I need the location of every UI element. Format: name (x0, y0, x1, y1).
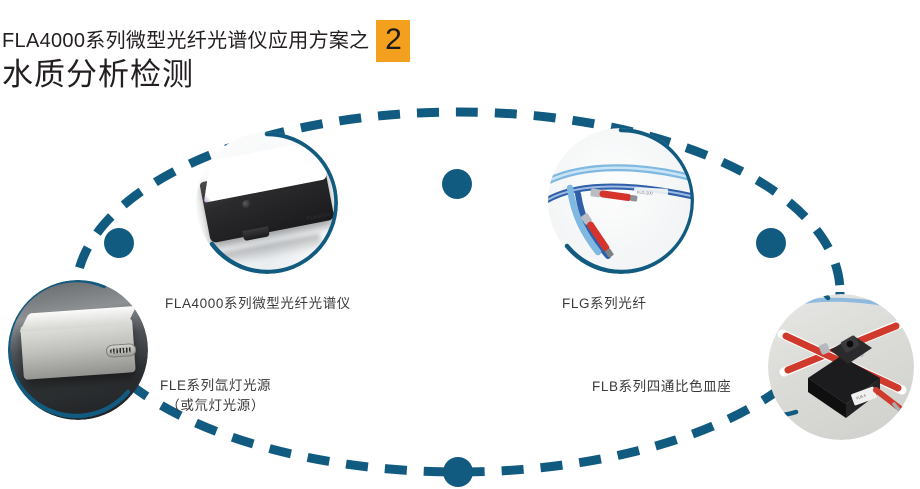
dot-right-icon (756, 228, 786, 258)
status-badge: 2 (376, 20, 410, 62)
dot-bottom-icon (443, 457, 473, 487)
node-spectrometer[interactable]: FLA4000 Miniature Fiber Optic Spectromet… (196, 132, 338, 274)
caption-cuvette-holder: FLB系列四通比色皿座 (592, 377, 731, 397)
svg-text:FLG-200: FLG-200 (637, 190, 654, 196)
caption-fiber: FLG系列光纤 (562, 294, 646, 314)
node-fiber[interactable]: FLG-200 (548, 128, 694, 274)
page-header: FLA4000系列微型光纤光谱仪应用方案之 2 水质分析检测 (0, 0, 920, 110)
dot-top-icon (442, 169, 472, 199)
optical-fiber-photo: FLG-200 (548, 128, 694, 274)
diagram-canvas: FLA4000 Miniature Fiber Optic Spectromet… (0, 104, 920, 489)
cuvette-holder-photo: FLB-4 (768, 294, 914, 440)
caption-spectrometer: FLA4000系列微型光纤光谱仪 (165, 294, 351, 314)
page-title: FLA4000系列微型光纤光谱仪应用方案之 (2, 31, 369, 51)
node-cuvette-holder[interactable]: FLB-4 (768, 294, 914, 440)
ring-path (76, 112, 840, 472)
caption-light-source: FLE系列氙灯光源 （或氘灯光源） (160, 376, 271, 415)
dot-left-icon (104, 228, 134, 258)
caption-light-source-line1: FLE系列氙灯光源 (160, 378, 271, 393)
page-subtitle: 水质分析检测 (2, 56, 194, 93)
db9-connector-icon (106, 343, 137, 358)
application-diagram-page: FLA4000系列微型光纤光谱仪应用方案之 2 水质分析检测 (0, 0, 920, 489)
node-light-source[interactable] (8, 280, 148, 420)
caption-light-source-line2: （或氘灯光源） (160, 396, 271, 416)
light-source-photo (8, 280, 148, 420)
spectrometer-photo: FLA4000 Miniature Fiber Optic Spectromet… (196, 132, 338, 274)
